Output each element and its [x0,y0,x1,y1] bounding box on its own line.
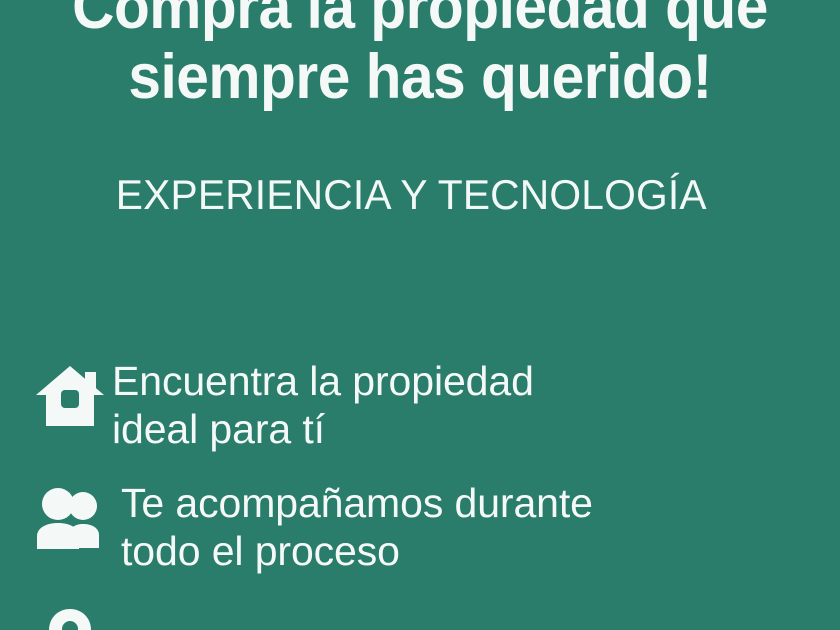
list-item: Encuentra la propiedad ideal para tí [34,355,824,453]
list-item-label: Encuentra la propiedad ideal para tí [112,355,824,453]
list-item: Te acompañamos durante todo el proceso [34,477,824,575]
list-item [34,597,824,630]
list-item-label [112,597,824,599]
promo-banner: Compra la propiedad que siempre has quer… [0,0,840,630]
map-pin-icon [34,597,112,630]
page-subtitle: EXPERIENCIA Y TECNOLOGÍA [13,170,828,220]
list-item-label: Te acompañamos durante todo el proceso [112,477,824,575]
people-icon [34,477,112,555]
feature-list: Encuentra la propiedad ideal para tí Te … [34,355,824,630]
house-icon [34,355,112,433]
page-title: Compra la propiedad que siempre has quer… [29,0,810,112]
